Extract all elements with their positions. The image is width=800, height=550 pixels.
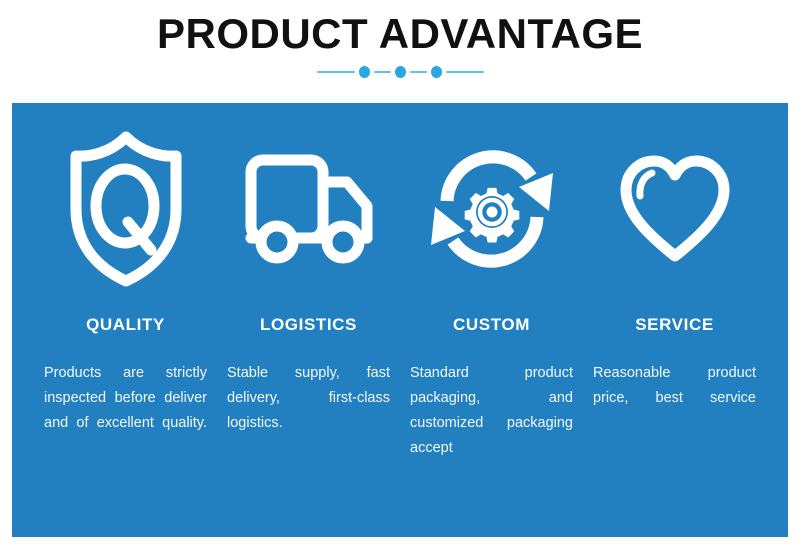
divider-ornament xyxy=(0,62,800,82)
divider-line-right xyxy=(446,71,484,73)
divider-line-left xyxy=(317,71,355,73)
card-body: Standard product packaging, and customiz… xyxy=(408,361,575,486)
card-body: Products are strictly inspected before d… xyxy=(42,361,209,461)
divider-line-mid-1 xyxy=(374,71,391,73)
advantage-card-quality: QUALITY Products are strictly inspected … xyxy=(34,103,217,461)
divider-dot-1 xyxy=(359,66,370,78)
card-title: SERVICE xyxy=(591,315,758,335)
card-title: CUSTOM xyxy=(408,315,575,335)
heart-icon xyxy=(591,103,758,315)
card-body: Stable supply, fast delivery, first-clas… xyxy=(225,361,392,461)
divider-dot-2 xyxy=(395,66,406,78)
advantage-card-logistics: LOGISTICS Stable supply, fast delivery, … xyxy=(217,103,400,461)
delivery-truck-icon xyxy=(225,103,392,315)
gear-refresh-icon xyxy=(408,103,575,315)
page-title: PRODUCT ADVANTAGE xyxy=(0,0,800,60)
divider-line-mid-2 xyxy=(410,71,427,73)
divider-dot-3 xyxy=(431,66,442,78)
card-title: QUALITY xyxy=(42,315,209,335)
advantage-card-list: QUALITY Products are strictly inspected … xyxy=(12,103,788,537)
card-title: LOGISTICS xyxy=(225,315,392,335)
advantage-panel: QUALITY Products are strictly inspected … xyxy=(12,103,788,537)
header: PRODUCT ADVANTAGE xyxy=(0,0,800,100)
advantage-card-service: SERVICE Reasonable product price, best s… xyxy=(583,103,766,436)
product-advantage-banner: PRODUCT ADVANTAGE QUALI xyxy=(0,0,800,550)
shield-q-icon xyxy=(42,103,209,315)
advantage-card-custom: CUSTOM Standard product packaging, and c… xyxy=(400,103,583,486)
card-body: Reasonable product price, best service xyxy=(591,361,758,436)
